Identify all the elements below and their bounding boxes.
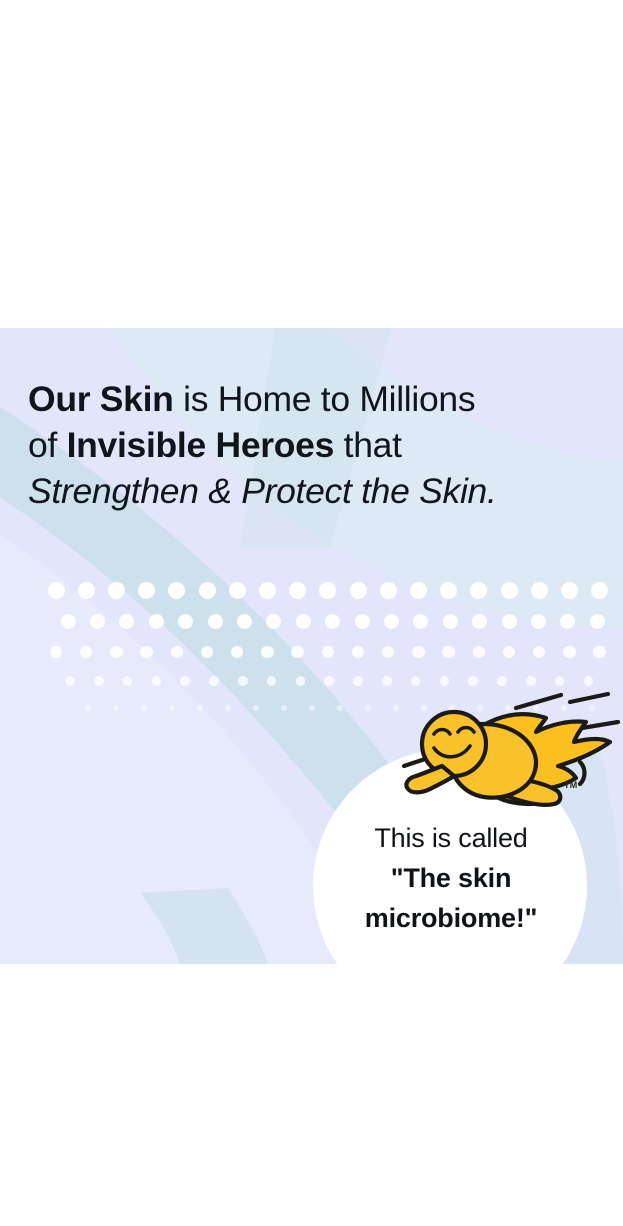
grid-dot xyxy=(296,676,306,686)
grid-dot xyxy=(119,614,134,629)
grid-dot xyxy=(322,646,334,658)
grid-dot xyxy=(291,646,303,658)
grid-dot xyxy=(259,582,276,599)
grid-dot xyxy=(178,614,193,629)
grid-dot xyxy=(526,676,536,686)
grid-dot xyxy=(108,582,125,599)
grid-dot xyxy=(560,614,575,629)
grid-dot xyxy=(281,705,288,712)
grid-dot xyxy=(442,646,454,658)
grid-dot xyxy=(382,646,394,658)
grid-dot xyxy=(123,676,133,686)
grid-dot xyxy=(324,676,334,686)
grid-dot xyxy=(50,646,62,658)
grid-dot xyxy=(591,582,608,599)
grid-dot xyxy=(563,646,575,658)
grid-dot xyxy=(561,582,578,599)
trademark-mark: TM xyxy=(564,780,578,790)
grid-dot xyxy=(289,582,306,599)
grid-dot xyxy=(531,614,546,629)
grid-dot xyxy=(80,646,92,658)
grid-dot xyxy=(593,646,605,658)
grid-dot xyxy=(503,646,515,658)
grid-dot xyxy=(94,676,104,686)
grid-dot xyxy=(497,676,507,686)
grid-dot xyxy=(384,614,399,629)
grid-dot xyxy=(168,582,185,599)
grid-dot xyxy=(141,705,148,712)
content-band: Our Skin is Home to Millions of Invisibl… xyxy=(0,328,623,964)
grid-dot xyxy=(584,676,594,686)
callout-line-1: This is called xyxy=(318,818,584,858)
grid-dot xyxy=(267,676,277,686)
grid-dot xyxy=(197,705,204,712)
mascot-head xyxy=(422,712,486,776)
grid-dot xyxy=(225,705,232,712)
callout-line-2: "The skin xyxy=(318,858,584,898)
grid-dot xyxy=(266,614,281,629)
grid-dot xyxy=(352,646,364,658)
mascot-arm xyxy=(406,766,454,792)
grid-dot xyxy=(443,614,458,629)
grid-dot xyxy=(355,614,370,629)
grid-dot xyxy=(382,676,392,686)
grid-dot xyxy=(309,705,316,712)
grid-dot xyxy=(380,582,397,599)
grid-dot xyxy=(440,582,457,599)
grid-dot xyxy=(199,582,216,599)
grid-dot xyxy=(229,582,246,599)
grid-dot xyxy=(533,646,545,658)
grid-dot xyxy=(85,705,92,712)
grid-dot xyxy=(325,614,340,629)
grid-dot xyxy=(501,582,518,599)
grid-dot xyxy=(502,614,517,629)
grid-dot xyxy=(531,582,548,599)
grid-dot xyxy=(412,646,424,658)
grid-dot xyxy=(201,646,213,658)
grid-dot xyxy=(90,614,105,629)
grid-dot xyxy=(411,676,421,686)
grid-dot xyxy=(440,676,450,686)
grid-dot xyxy=(319,582,336,599)
grid-dot xyxy=(61,614,76,629)
grid-dot xyxy=(350,582,367,599)
grid-dot xyxy=(410,582,427,599)
grid-dot xyxy=(138,582,155,599)
mascot-illustration xyxy=(396,690,623,815)
grid-dot xyxy=(238,676,248,686)
grid-dot xyxy=(152,676,162,686)
grid-dot xyxy=(180,676,190,686)
callout-line-3: microbiome!" xyxy=(318,898,584,938)
grid-dot xyxy=(337,705,344,712)
grid-dot xyxy=(110,646,122,658)
grid-dot xyxy=(48,582,65,599)
flying-superhero-mascot xyxy=(396,690,623,815)
grid-dot xyxy=(296,614,311,629)
grid-dot xyxy=(231,646,243,658)
grid-dot xyxy=(353,676,363,686)
callout-text: This is called "The skin microbiome!" xyxy=(318,818,584,938)
grid-dot xyxy=(169,705,176,712)
grid-dot xyxy=(209,676,219,686)
grid-dot xyxy=(413,614,428,629)
grid-dot xyxy=(472,614,487,629)
grid-dot xyxy=(171,646,183,658)
grid-dot xyxy=(65,676,75,686)
grid-dot xyxy=(78,582,95,599)
grid-dot xyxy=(468,676,478,686)
grid-dot xyxy=(473,646,485,658)
grid-dot xyxy=(555,676,565,686)
grid-dot xyxy=(149,614,164,629)
grid-dot xyxy=(237,614,252,629)
grid-dot xyxy=(470,582,487,599)
grid-dot xyxy=(140,646,152,658)
grid-dot xyxy=(113,705,120,712)
grid-dot xyxy=(208,614,223,629)
grid-dot xyxy=(253,705,260,712)
screenshot-root: Our Skin is Home to Millions of Invisibl… xyxy=(0,0,623,1226)
grid-dot xyxy=(590,614,605,629)
grid-dot xyxy=(365,705,372,712)
grid-dot xyxy=(261,646,273,658)
